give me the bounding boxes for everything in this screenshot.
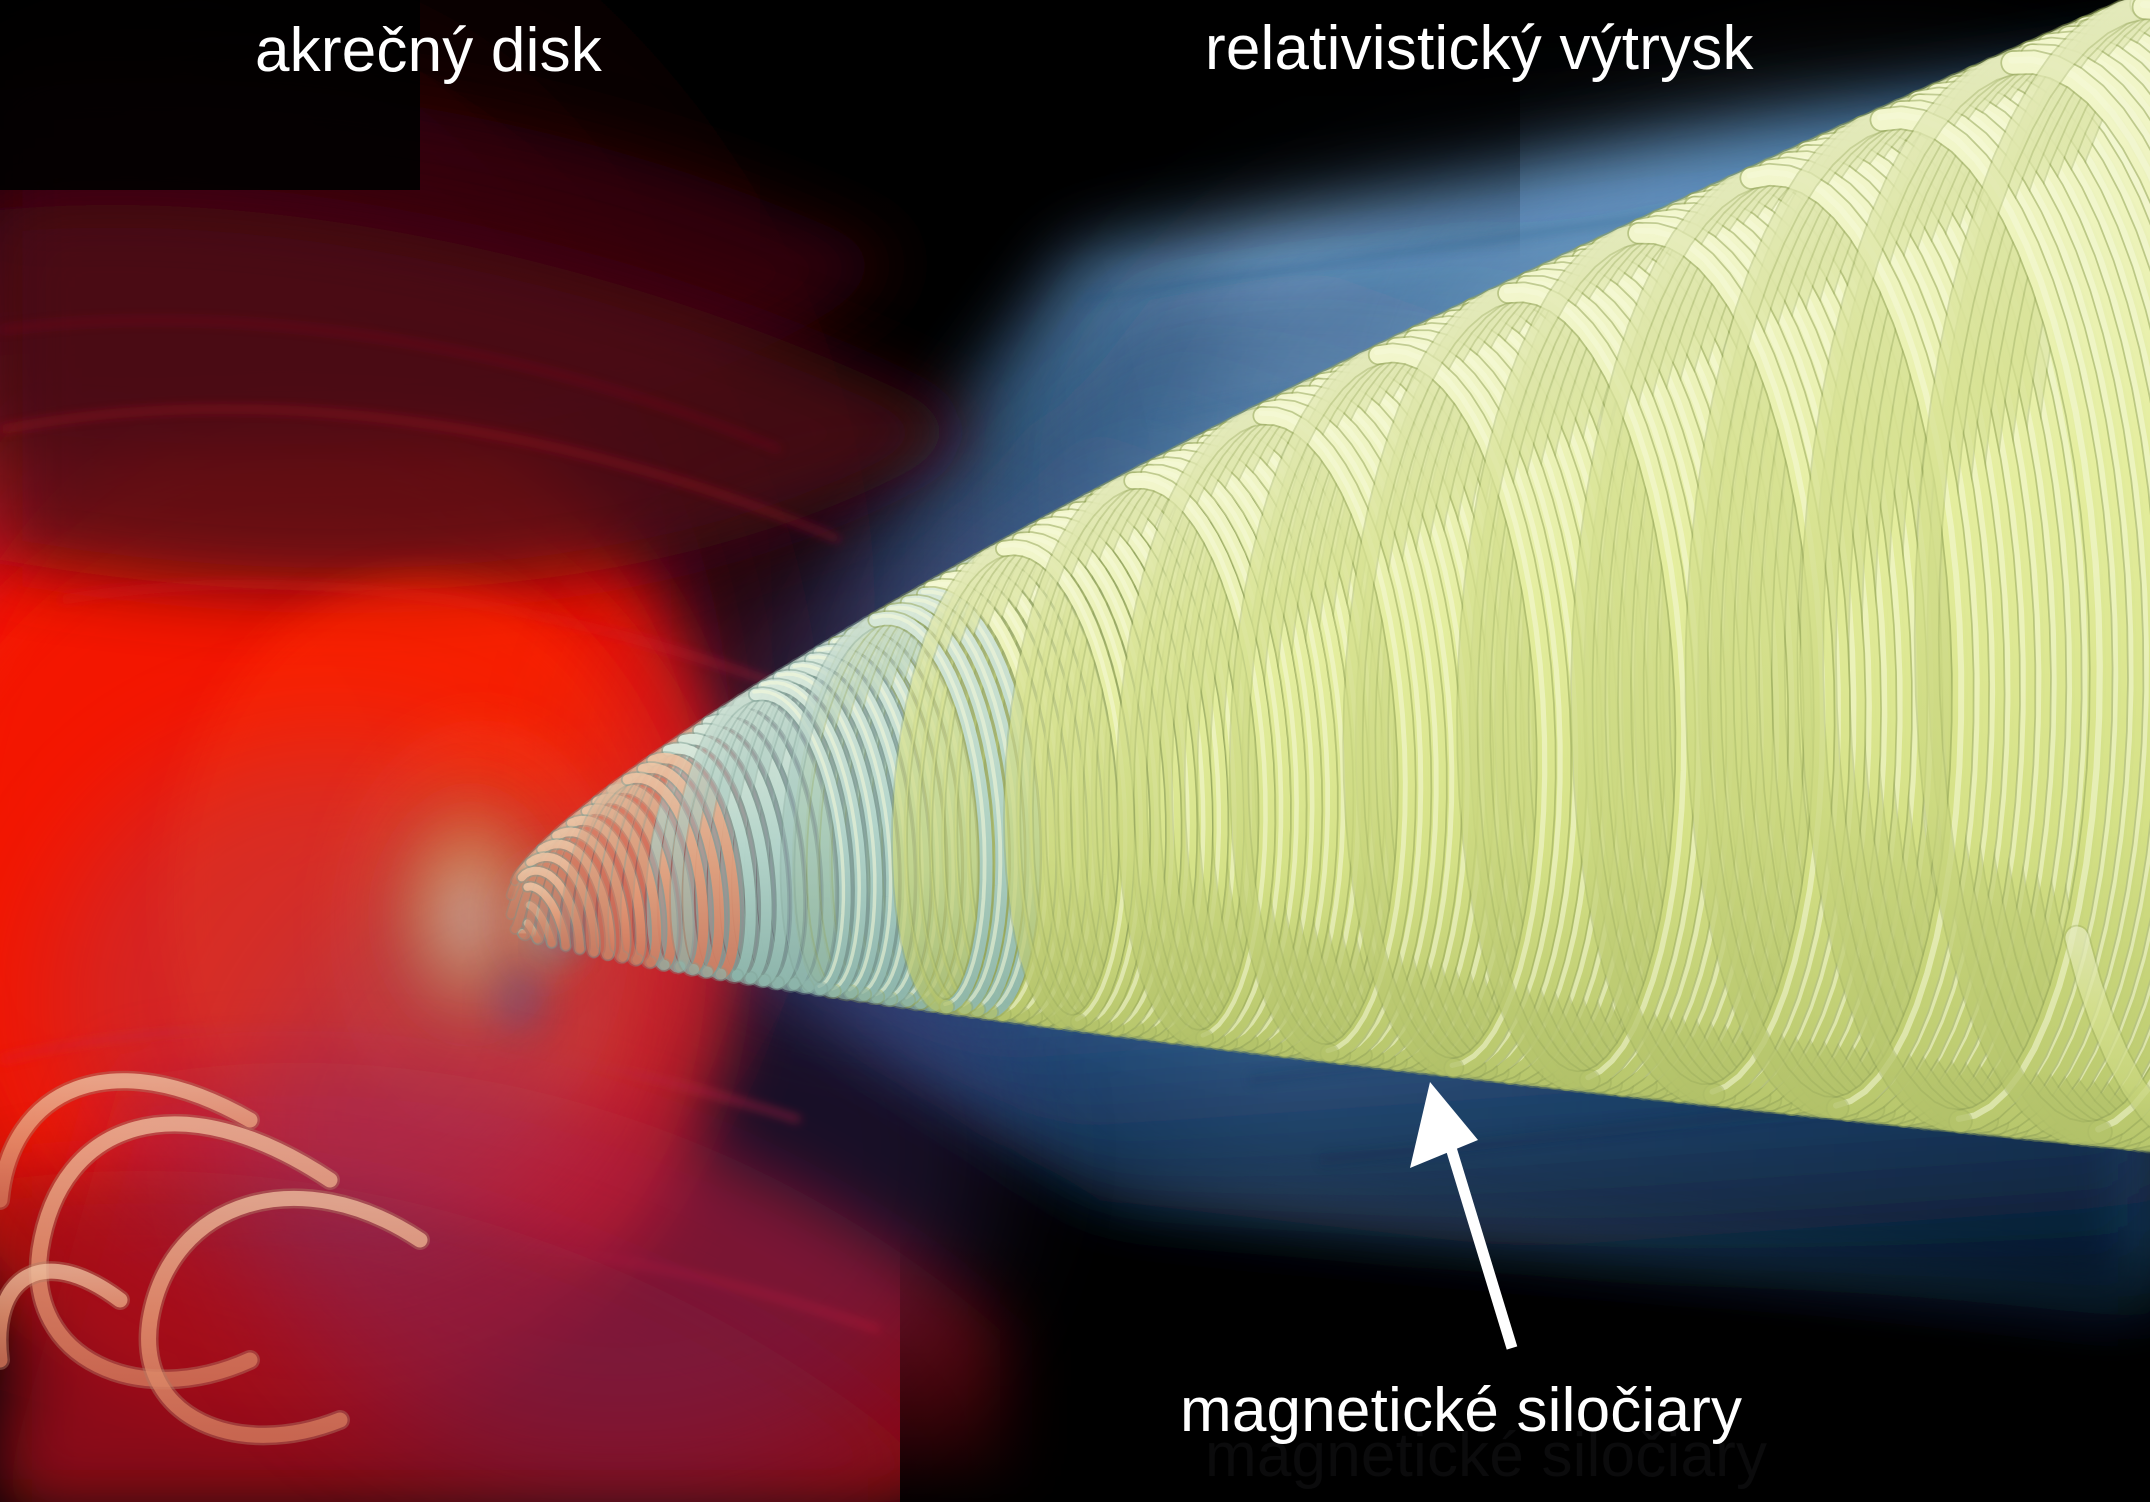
annotation-layer <box>0 0 2150 1502</box>
field-lines-pointer-arrow <box>1410 1082 1512 1348</box>
magnetic-field-lines-label: magnetické siločiary <box>1180 1380 1742 1442</box>
astrophysics-simulation-image: magnetické siločiary akrečný disk relati… <box>0 0 2150 1502</box>
